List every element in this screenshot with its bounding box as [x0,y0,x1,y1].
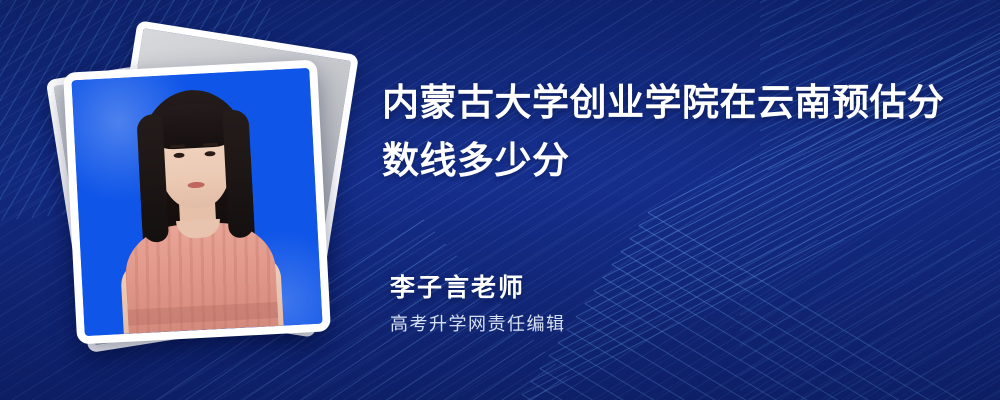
author-role: 高考升学网责任编辑 [390,312,566,336]
byline: 李子言老师 高考升学网责任编辑 [390,272,566,336]
author-photo-card [63,60,331,345]
author-portrait [71,68,322,336]
banner-text-column: 内蒙古大学创业学院在云南预估分数线多少分 李子言老师 高考升学网责任编辑 [382,0,982,400]
author-name: 李子言老师 [390,272,566,304]
photo-card-stack [48,28,348,358]
article-header-banner: 内蒙古大学创业学院在云南预估分数线多少分 李子言老师 高考升学网责任编辑 [0,0,1000,400]
portrait-hair-strand-right [222,109,255,238]
page-title: 内蒙古大学创业学院在云南预估分数线多少分 [382,74,974,190]
